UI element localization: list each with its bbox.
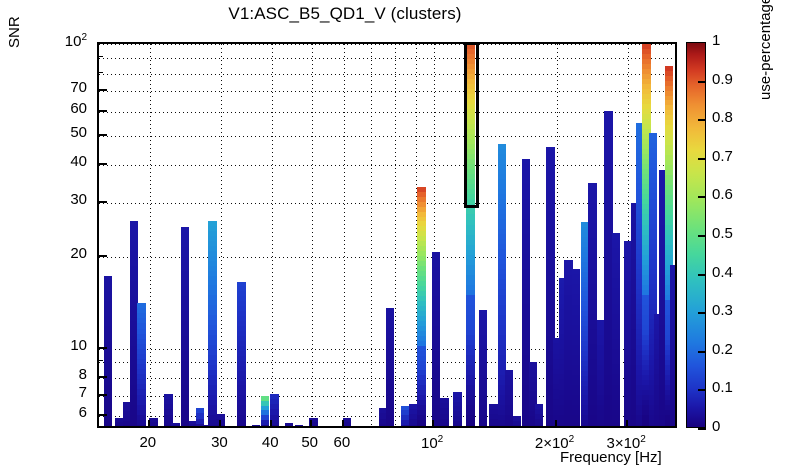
bar-segment xyxy=(417,425,426,428)
x-axis-tick xyxy=(555,420,557,428)
x-axis-tick xyxy=(626,420,628,428)
grid-line-vertical xyxy=(272,44,273,426)
bar-segment xyxy=(285,425,294,428)
y-axis-tick-label: 7 xyxy=(27,384,87,401)
plot-area xyxy=(99,44,675,426)
y-axis-minor-tick xyxy=(97,72,103,73)
y-axis-tick-label: 60 xyxy=(27,100,87,117)
colorbar-tick xyxy=(698,158,706,160)
bar-segment xyxy=(189,427,198,428)
x-axis-tick xyxy=(310,420,312,428)
grid-line-horizontal xyxy=(99,91,675,92)
y-axis-tick xyxy=(97,110,107,112)
grid-line-vertical xyxy=(312,44,313,426)
y-axis-tick xyxy=(97,163,107,165)
x-axis-tick-label: 2×102 xyxy=(520,434,590,452)
x-axis-tick xyxy=(148,420,150,428)
y-axis-tick-label: 20 xyxy=(27,245,87,262)
bar-segment xyxy=(149,422,158,427)
plot-frame xyxy=(97,42,677,428)
grid-line-horizontal xyxy=(99,44,675,45)
y-axis-tick-label: 8 xyxy=(27,366,87,383)
grid-line-horizontal xyxy=(99,112,675,113)
grid-line-vertical xyxy=(221,44,222,426)
grid-line-vertical xyxy=(150,44,151,426)
bar-segment xyxy=(386,425,395,428)
y-axis-tick xyxy=(97,134,107,136)
colorbar-tick-label: 0.6 xyxy=(712,186,733,203)
colorbar-tick xyxy=(698,428,706,430)
bar-segment xyxy=(466,425,475,428)
grid-line-vertical xyxy=(371,44,372,426)
bar-segment xyxy=(202,427,211,428)
bar-segment xyxy=(261,425,270,428)
colorbar-tick-label: 0 xyxy=(712,418,720,435)
bar-segment xyxy=(572,425,581,428)
y-axis-tick xyxy=(97,89,107,91)
y-axis-minor-tick xyxy=(97,56,103,57)
x-axis-tick-label: 3×102 xyxy=(591,434,661,452)
y-axis-tick-label: 102 xyxy=(27,32,87,50)
colorbar-tick-label: 0.8 xyxy=(712,109,733,126)
colorbar-title: use-percentage xyxy=(757,0,774,100)
bar-segment xyxy=(612,425,621,428)
bar-segment xyxy=(237,425,246,428)
x-axis-tick xyxy=(219,420,221,428)
grid-line-vertical xyxy=(344,44,345,426)
x-axis-tick xyxy=(342,420,344,428)
y-axis-tick-label: 30 xyxy=(27,191,87,208)
y-axis-tick xyxy=(97,201,107,203)
y-axis-tick-label: 40 xyxy=(27,153,87,170)
selected-cluster-highlight[interactable] xyxy=(464,42,480,208)
bar-segment xyxy=(453,425,462,428)
grid-line-horizontal xyxy=(99,74,675,75)
colorbar-tick-label: 0.2 xyxy=(712,341,733,358)
x-axis-tick xyxy=(270,420,272,428)
y-axis-tick xyxy=(97,376,107,378)
bar-segment xyxy=(489,425,498,428)
grid-line-horizontal xyxy=(99,165,675,166)
colorbar-tick-label: 0.7 xyxy=(712,148,733,165)
bar-segment xyxy=(104,425,113,428)
colorbar-tick-label: 0.4 xyxy=(712,264,733,281)
colorbar-tick-label: 0.9 xyxy=(712,71,733,88)
colorbar-tick-label: 0.3 xyxy=(712,302,733,319)
colorbar-tick xyxy=(698,119,706,121)
colorbar-tick-label: 0.1 xyxy=(712,379,733,396)
y-axis-tick-label: 50 xyxy=(27,124,87,141)
bar-segment xyxy=(252,425,261,427)
bar-segment xyxy=(252,427,261,428)
bar-segment xyxy=(149,426,158,428)
bar-segment xyxy=(479,425,488,428)
colorbar-tick xyxy=(698,312,706,314)
y-axis-tick-label: 70 xyxy=(27,79,87,96)
y-axis-tick xyxy=(97,347,107,349)
colorbar-tick xyxy=(698,351,706,353)
x-axis-tick-label: 20 xyxy=(113,434,183,451)
bar-segment xyxy=(137,425,146,428)
bar-segment xyxy=(181,425,190,428)
colorbar-tick xyxy=(698,81,706,83)
plot-canvas: V1:ASC_B5_QD1_V (clusters) SNR Frequency… xyxy=(0,0,805,472)
bar-segment xyxy=(115,426,124,428)
x-axis-tick-label: 102 xyxy=(397,434,467,452)
bar-segment xyxy=(670,425,677,428)
bar-segment xyxy=(295,425,304,427)
colorbar-tick-label: 1 xyxy=(712,32,720,49)
bar-segment xyxy=(588,425,597,428)
colorbar-tick xyxy=(698,196,706,198)
x-axis-tick-label: 60 xyxy=(307,434,377,451)
bar-segment xyxy=(295,427,304,428)
y-axis-tick xyxy=(97,414,107,416)
colorbar-tick xyxy=(698,389,706,391)
grid-line-vertical xyxy=(395,44,396,426)
colorbar-tick-label: 0.5 xyxy=(712,225,733,242)
grid-line-horizontal xyxy=(99,58,675,59)
x-axis-tick xyxy=(432,420,434,428)
y-axis-tick xyxy=(97,42,107,44)
y-axis-tick-label: 6 xyxy=(27,404,87,421)
page-title: V1:ASC_B5_QD1_V (clusters) xyxy=(0,4,690,24)
y-axis-minor-tick xyxy=(97,360,103,361)
grid-line-horizontal xyxy=(99,136,675,137)
y-axis-tick xyxy=(97,394,107,396)
y-axis-tick-label: 10 xyxy=(27,337,87,354)
colorbar-tick xyxy=(698,274,706,276)
bar-segment xyxy=(171,425,180,428)
bar-segment xyxy=(440,425,449,428)
y-axis-title: SNR xyxy=(6,16,23,48)
y-axis-tick xyxy=(97,255,107,257)
bar-segment xyxy=(535,425,544,428)
bar-segment xyxy=(513,425,522,428)
colorbar-tick xyxy=(698,235,706,237)
